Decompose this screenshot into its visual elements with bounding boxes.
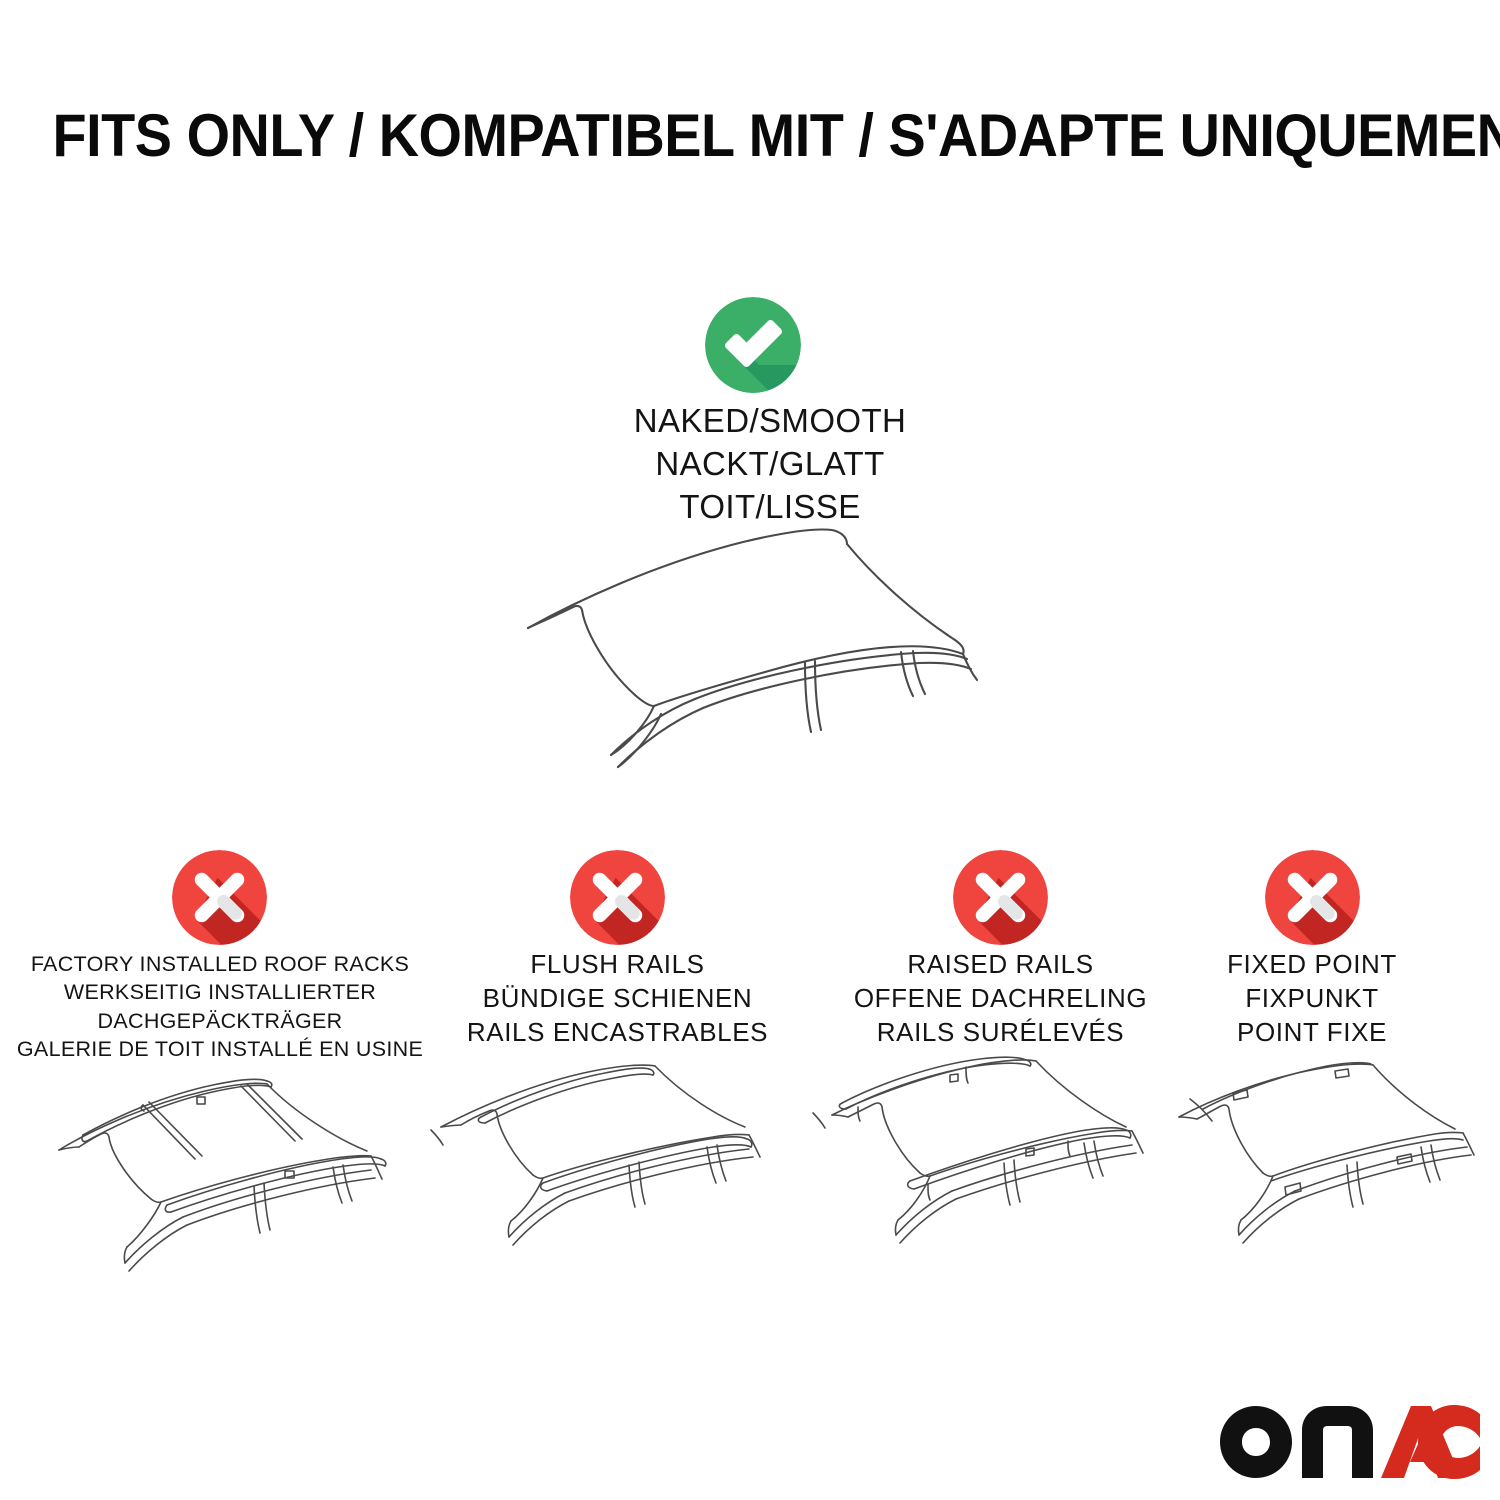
poster-canvas: FITS ONLY / KOMPATIBEL MIT / S'ADAPTE UN…	[0, 0, 1500, 1500]
caption-line: FIXED POINT	[1162, 948, 1462, 982]
fixed-point-illustration	[1175, 1055, 1495, 1285]
caption-line: NAKED/SMOOTH	[520, 400, 1020, 443]
caption-line: WERKSEITIG INSTALLIERTER	[10, 978, 430, 1006]
caption-line: BÜNDIGE SCHIENEN	[440, 982, 795, 1016]
x-circle-icon	[172, 850, 267, 945]
check-circle-icon	[705, 297, 801, 393]
caption-line: OFFENE DACHRELING	[823, 982, 1178, 1016]
raised-rails-illustration	[828, 1055, 1218, 1285]
naked-smooth-roof-illustration	[515, 518, 1015, 788]
caption-line: FIXPUNKT	[1162, 982, 1462, 1016]
caption-line: DACHGEPÄCKTRÄGER	[10, 1007, 430, 1035]
caption-line: RAISED RAILS	[823, 948, 1178, 982]
caption-line: RAILS SURÉLEVÉS	[823, 1016, 1178, 1050]
caption-line: POINT FIXE	[1162, 1016, 1462, 1050]
factory-installed-roof-racks-caption: FACTORY INSTALLED ROOF RACKS WERKSEITIG …	[10, 950, 430, 1064]
flush-rails-caption: FLUSH RAILS BÜNDIGE SCHIENEN RAILS ENCAS…	[440, 948, 795, 1049]
caption-line: FLUSH RAILS	[440, 948, 795, 982]
x-circle-icon	[570, 850, 665, 945]
page-title: FITS ONLY / KOMPATIBEL MIT / S'ADAPTE UN…	[53, 104, 1448, 167]
caption-line: FACTORY INSTALLED ROOF RACKS	[10, 950, 430, 978]
x-circle-icon	[953, 850, 1048, 945]
factory-roof-rack-illustration	[45, 1055, 445, 1285]
caption-line: RAILS ENCASTRABLES	[440, 1016, 795, 1050]
flush-rails-illustration	[437, 1055, 827, 1285]
raised-rails-caption: RAISED RAILS OFFENE DACHRELING RAILS SUR…	[823, 948, 1178, 1049]
omac-logo	[1218, 1404, 1480, 1480]
naked-smooth-caption: NAKED/SMOOTH NACKT/GLATT TOIT/LISSE	[520, 400, 1020, 529]
caption-line: NACKT/GLATT	[520, 443, 1020, 486]
fixed-point-caption: FIXED POINT FIXPUNKT POINT FIXE	[1162, 948, 1462, 1049]
x-circle-icon	[1265, 850, 1360, 945]
